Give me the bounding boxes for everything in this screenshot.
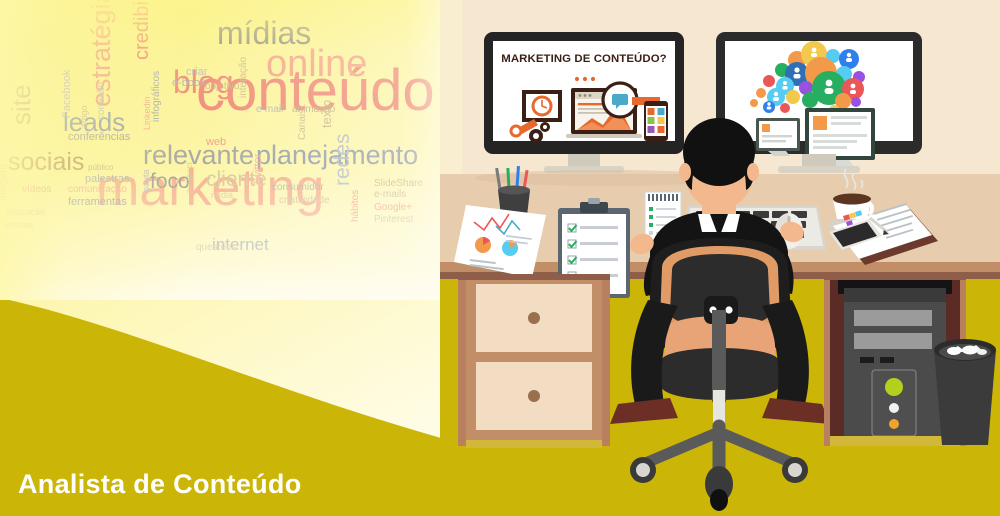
word-cloud-word: Facebook — [61, 69, 73, 118]
word-cloud-word: Linkedin — [142, 96, 152, 130]
word-cloud-word: educação — [6, 207, 45, 217]
word-cloud-word: consumidor — [272, 182, 324, 193]
page-title: Analista de Conteúdo — [18, 469, 302, 500]
word-cloud-word: artigo — [79, 105, 89, 128]
office-illustration: MARKETING DE CONTEÚDO? — [440, 0, 1000, 516]
word-cloud-word: prospect — [185, 162, 194, 193]
word-cloud-word: conexão — [96, 82, 107, 120]
word-cloud-word: ferramentas — [68, 196, 127, 208]
word-cloud-word: redes — [331, 133, 354, 186]
word-cloud-word: web — [205, 136, 226, 148]
word-cloud-word: pauta — [141, 169, 151, 192]
left-monitor-title: MARKETING DE CONTEÚDO? — [501, 52, 666, 65]
banner-canvas: conteúdomarketingonlineplanejamentomídia… — [0, 0, 1000, 516]
word-cloud-word: comunicação — [68, 184, 127, 195]
word-cloud-word: Google+ — [374, 202, 412, 213]
word-cloud-svg: conteúdomarketingonlineplanejamentomídia… — [0, 0, 460, 300]
word-cloud-word: Pinterest — [374, 214, 414, 225]
word-cloud: conteúdomarketingonlineplanejamentomídia… — [0, 0, 460, 300]
word-cloud-word: hábitos — [350, 190, 361, 222]
word-cloud-word: interação — [238, 56, 249, 98]
word-cloud-word: criatividade — [279, 195, 330, 206]
word-cloud-word: Twitter — [252, 153, 264, 186]
word-cloud-word: credibilidade — [131, 0, 153, 60]
word-cloud-word: vídeos — [22, 184, 51, 195]
word-cloud-word: relevante — [143, 140, 254, 170]
word-cloud-word: infográficos — [151, 71, 162, 122]
word-cloud-word: sociais — [8, 148, 84, 176]
word-cloud-word: conferências — [68, 131, 131, 143]
office-scene-svg: MARKETING DE CONTEÚDO? — [440, 0, 1000, 516]
word-cloud-word: foco — [150, 170, 190, 193]
power-led-green — [885, 378, 903, 396]
word-cloud-word: imagem — [0, 164, 9, 200]
word-cloud-word: questões — [196, 242, 237, 253]
word-cloud-word: público — [88, 163, 114, 172]
left-monitor[interactable]: MARKETING DE CONTEÚDO? — [484, 32, 684, 173]
word-cloud-word: e-book — [172, 77, 206, 89]
word-cloud-word: e-mail — [256, 104, 283, 115]
word-cloud-word: e-mails — [374, 189, 406, 200]
word-cloud-word: SlideShare — [374, 178, 423, 189]
word-cloud-word: mídias — [217, 15, 311, 51]
word-cloud-word: objetivo — [205, 81, 240, 92]
trash-bin[interactable] — [934, 339, 996, 445]
word-cloud-word: mídia — [211, 190, 233, 200]
word-cloud-word: vendas — [4, 220, 34, 230]
word-cloud-word: site — [6, 85, 36, 125]
word-cloud-word: Canais — [297, 109, 308, 140]
drawer-unit[interactable] — [458, 274, 610, 448]
activity-led-orange — [889, 419, 899, 429]
status-led-white — [889, 403, 899, 413]
